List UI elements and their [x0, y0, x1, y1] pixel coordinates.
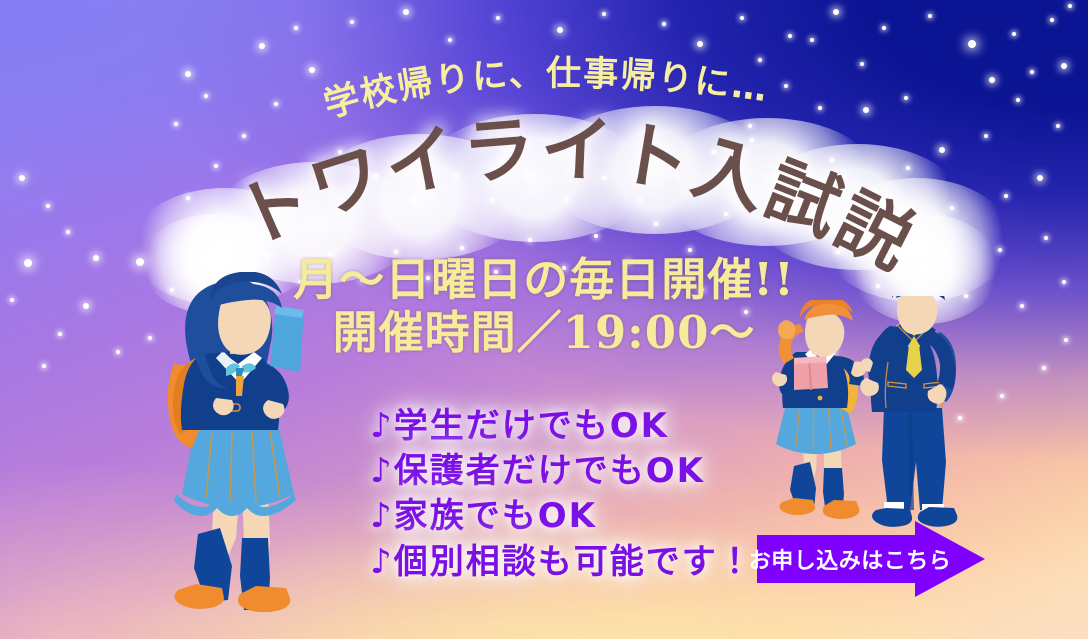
star: [750, 138, 754, 142]
star: [10, 298, 14, 302]
star: [950, 206, 954, 210]
star: [412, 198, 416, 202]
star: [528, 238, 532, 242]
star: [42, 364, 46, 368]
apply-now-arrow-button[interactable]: お申し込みはこちら: [757, 521, 985, 597]
star: [490, 198, 494, 202]
star: [638, 198, 642, 202]
star: [740, 16, 744, 20]
star: [863, 107, 869, 113]
star: [830, 158, 834, 162]
star: [66, 230, 70, 234]
star: [662, 22, 666, 26]
star: [724, 212, 728, 216]
star: [266, 254, 270, 258]
star: [1000, 394, 1004, 398]
star: [876, 284, 880, 288]
star: [774, 178, 778, 182]
star: [1042, 366, 1046, 370]
star: [562, 266, 566, 270]
star: [1062, 280, 1066, 284]
star: [564, 198, 568, 202]
star: [460, 246, 464, 250]
star: [83, 303, 89, 309]
apply-now-label: お申し込みはこちら: [771, 521, 929, 597]
star: [833, 9, 839, 15]
star: [989, 77, 995, 83]
star: [328, 252, 332, 256]
star: [403, 9, 409, 15]
star: [174, 122, 178, 126]
star: [374, 174, 378, 178]
star: [1004, 194, 1008, 198]
star: [882, 26, 886, 30]
star: [46, 204, 50, 208]
star: [904, 96, 908, 100]
star: [494, 270, 498, 274]
star: [19, 175, 25, 181]
star: [906, 166, 910, 170]
star: [602, 12, 606, 16]
star: [1056, 124, 1060, 128]
star: [1044, 236, 1048, 240]
star: [454, 174, 458, 178]
star: [1030, 70, 1034, 74]
star: [186, 196, 190, 200]
star: [294, 26, 298, 30]
star: [712, 150, 716, 154]
star: [116, 350, 120, 354]
star: [654, 222, 658, 226]
star: [274, 102, 278, 106]
star: [872, 190, 876, 194]
star: [1068, 4, 1072, 8]
star: [394, 250, 398, 254]
poster-canvas: 学校帰りに、仕事帰りに… トワイライト入試説明会: [0, 0, 1088, 639]
figure-schoolboy-right: [858, 296, 970, 530]
star: [758, 58, 762, 62]
star: [928, 14, 932, 18]
star: [1016, 98, 1020, 102]
star: [895, 237, 901, 243]
star: [1012, 32, 1016, 36]
star: [309, 67, 315, 73]
star: [1050, 18, 1054, 22]
star: [93, 255, 99, 261]
star: [242, 134, 246, 138]
star: [448, 38, 452, 42]
star: [676, 174, 680, 178]
star: [697, 41, 703, 47]
star: [259, 43, 265, 49]
star: [818, 106, 822, 110]
star: [350, 20, 354, 24]
star: [185, 71, 191, 77]
star: [136, 258, 144, 266]
star: [836, 250, 840, 254]
star: [338, 150, 342, 154]
star: [748, 124, 752, 128]
star: [626, 260, 630, 264]
star: [24, 259, 32, 267]
star: [968, 40, 976, 48]
star: [810, 38, 814, 42]
star: [202, 258, 206, 262]
star: [784, 84, 788, 88]
star: [360, 278, 364, 282]
star: [496, 16, 500, 20]
star: [688, 248, 692, 252]
star: [860, 62, 864, 66]
star: [214, 164, 218, 168]
star: [204, 94, 208, 98]
star: [946, 260, 950, 264]
star: [1061, 63, 1067, 69]
star: [700, 288, 704, 292]
star: [1037, 175, 1043, 181]
star: [557, 27, 563, 33]
star: [939, 147, 945, 153]
star: [426, 276, 430, 280]
figure-schoolgirl-left: [150, 272, 325, 612]
star: [984, 134, 988, 138]
star: [526, 174, 530, 178]
star: [744, 310, 748, 314]
star: [808, 212, 812, 216]
star: [1064, 338, 1068, 342]
star: [594, 234, 598, 238]
star: [58, 332, 62, 336]
star: [998, 248, 1002, 252]
star: [1020, 304, 1024, 308]
star: [788, 34, 792, 38]
star: [602, 176, 606, 180]
